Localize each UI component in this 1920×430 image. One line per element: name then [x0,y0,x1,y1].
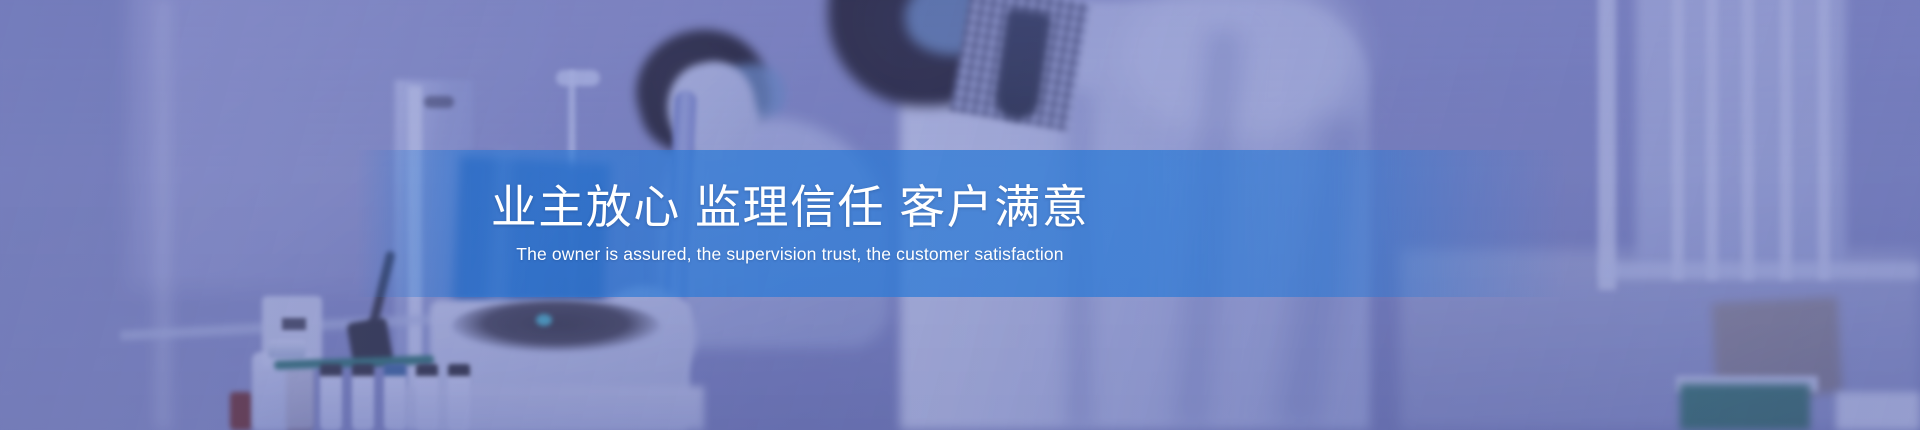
hero-banner: 业主放心 监理信任 客户满意 The owner is assured, the… [0,0,1920,430]
banner-copy: 业主放心 监理信任 客户满意 The owner is assured, the… [0,150,1580,297]
banner-subheadline: The owner is assured, the supervision tr… [516,244,1063,265]
banner-headline: 业主放心 监理信任 客户满意 [491,182,1090,234]
